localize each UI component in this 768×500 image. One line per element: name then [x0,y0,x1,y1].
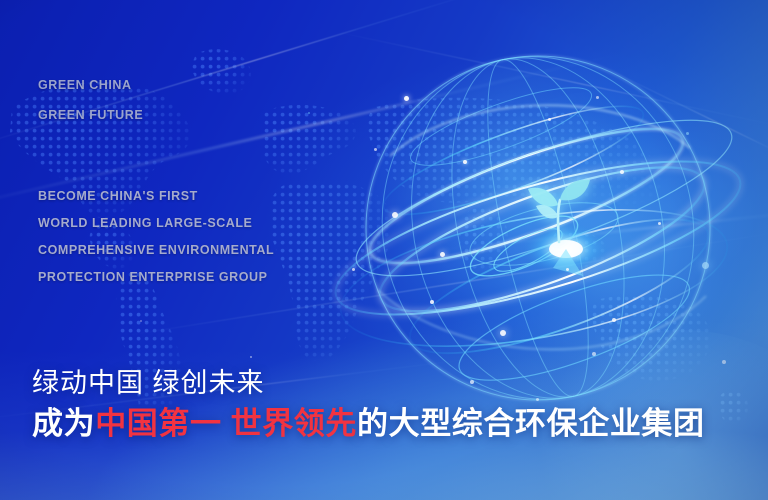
eyebrow-text-block: GREEN CHINA GREEN FUTURE [38,70,143,130]
headline-prefix: 成为 [32,406,95,441]
headline-highlight-china-first: 中国第一 [95,406,221,441]
mission-line-4: PROTECTION ENTERPRISE GROUP [38,264,274,291]
headline-line-1: 绿动中国 绿创未来 [32,366,705,401]
mission-line-3: COMPREHENSIVE ENVIRONMENTAL [38,237,274,264]
mission-line-1: BECOME CHINA'S FIRST [38,183,274,210]
mission-line-2: WORLD LEADING LARGE-SCALE [38,210,274,237]
hero-banner: GREEN CHINA GREEN FUTURE BECOME CHINA'S … [0,0,768,500]
eyebrow-line-2: GREEN FUTURE [38,100,143,130]
mission-text-block: BECOME CHINA'S FIRST WORLD LEADING LARGE… [38,183,274,291]
headline-suffix: 的大型综合环保企业集团 [357,406,705,441]
headline-block: 绿动中国 绿创未来 成为中国第一世界领先的大型综合环保企业集团 [32,366,705,443]
eyebrow-line-1: GREEN CHINA [38,70,143,100]
headline-highlight-world-leading: 世界领先 [231,406,357,441]
headline-line-2: 成为中国第一世界领先的大型综合环保企业集团 [32,404,705,444]
